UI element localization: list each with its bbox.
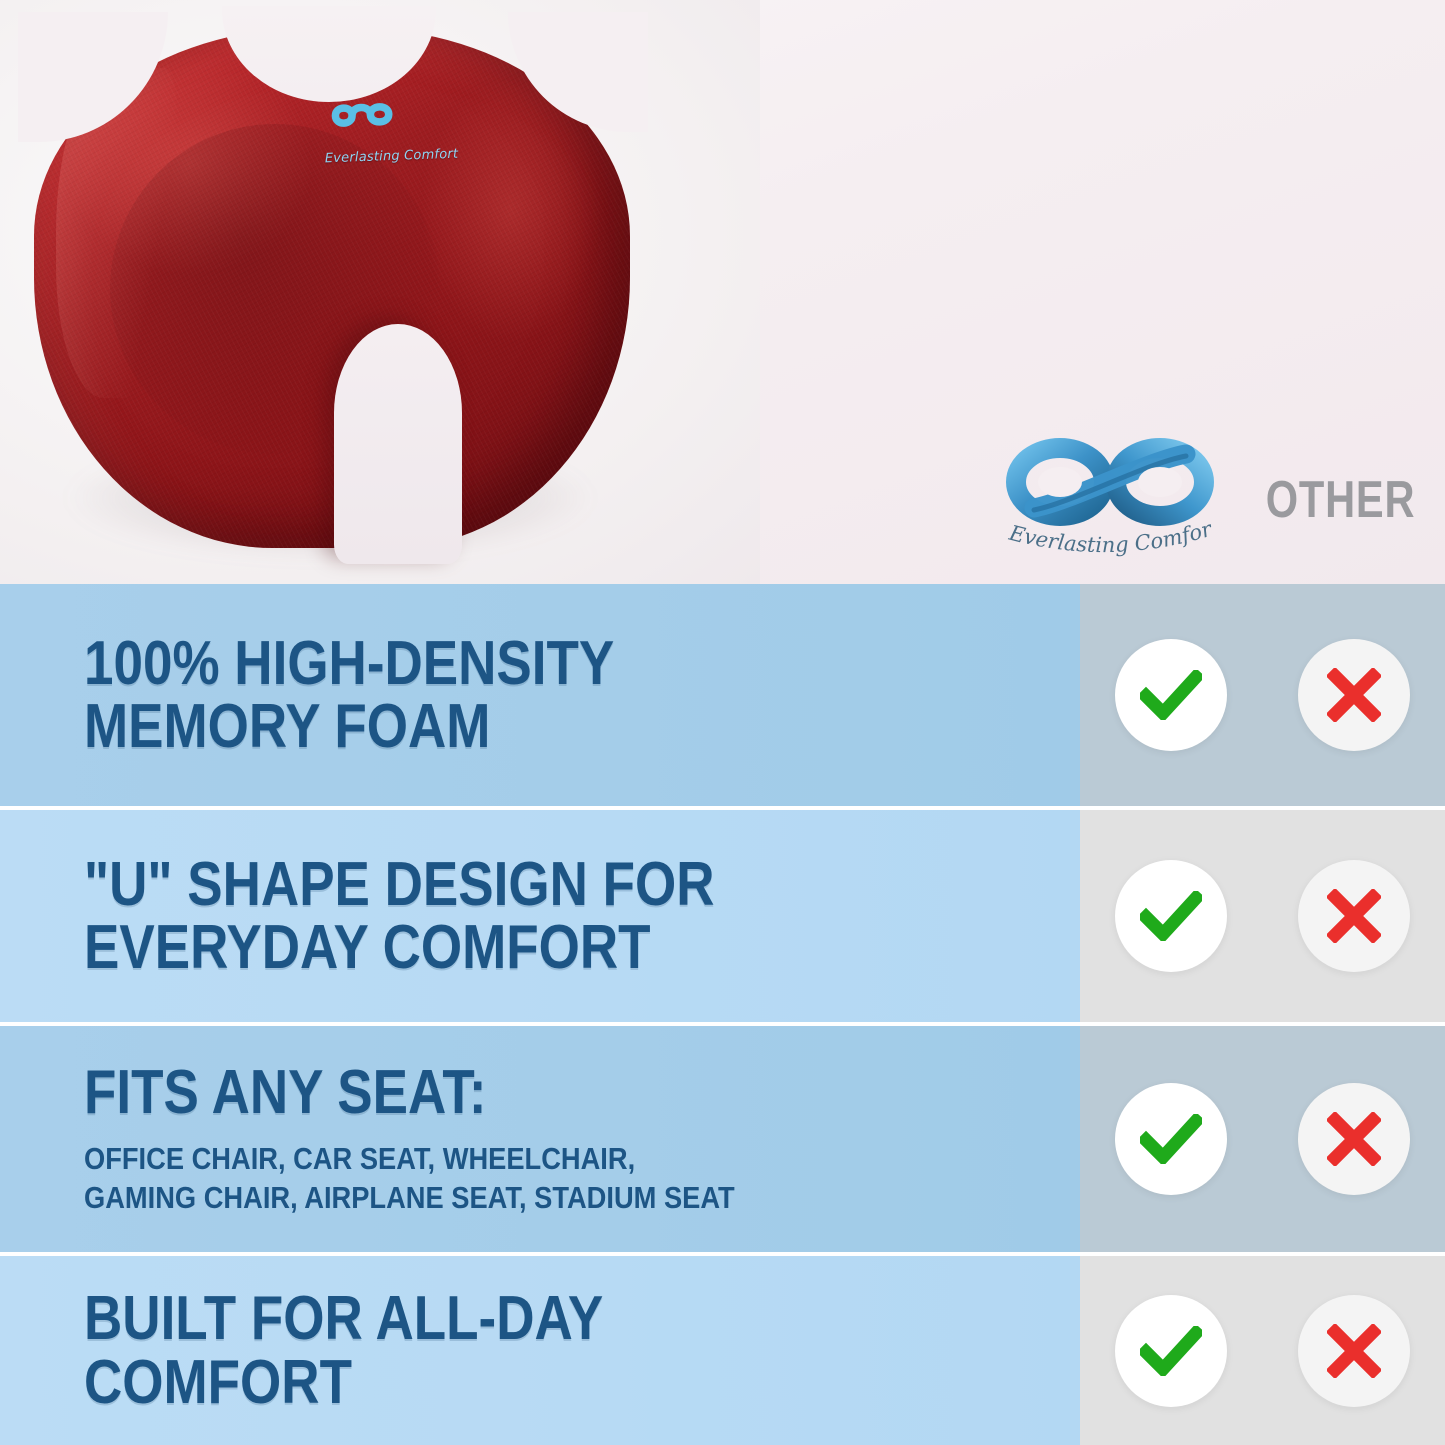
cross-badge	[1298, 639, 1410, 751]
check-badge	[1115, 639, 1227, 751]
feature-title: FITS ANY SEAT:	[84, 1061, 901, 1124]
cross-icon	[1327, 1112, 1381, 1166]
feature-title: 100% HIGH-DENSITY MEMORY FOAM	[84, 632, 901, 758]
feature-cell: "U" SHAPE DESIGN FOR EVERYDAY COMFORT	[0, 810, 1080, 1022]
check-icon	[1140, 891, 1202, 941]
other-mark-cell	[1262, 1026, 1445, 1252]
header-zone: Everlasting Comfort	[0, 0, 1445, 584]
cross-badge	[1298, 860, 1410, 972]
cushion-embroidered-logo: Everlasting Comfort	[316, 83, 466, 198]
everlasting-mark-cell	[1080, 1026, 1263, 1252]
other-column-header: OTHER	[1235, 420, 1445, 580]
cross-icon	[1327, 889, 1381, 943]
check-icon	[1140, 1326, 1202, 1376]
brand-wordmark: Everlasting Comfort®	[998, 524, 1222, 564]
check-badge	[1115, 1083, 1227, 1195]
feature-subtitle: OFFICE CHAIR, CAR SEAT, WHEELCHAIR, GAMI…	[84, 1139, 925, 1217]
check-badge	[1115, 1295, 1227, 1407]
cross-badge	[1298, 1295, 1410, 1407]
cushion-u-cutout	[334, 324, 462, 564]
check-icon	[1140, 1114, 1202, 1164]
feature-cell: BUILT FOR ALL-DAY COMFORT	[0, 1256, 1080, 1445]
feature-cell: FITS ANY SEAT: OFFICE CHAIR, CAR SEAT, W…	[0, 1026, 1080, 1252]
brand-column-header: Everlasting Comfort®	[985, 420, 1235, 580]
infinity-icon	[1004, 436, 1216, 528]
other-label: OTHER	[1265, 470, 1415, 530]
svg-text:Everlasting Comfort®: Everlasting Comfort®	[998, 524, 1216, 557]
everlasting-mark-cell	[1080, 584, 1263, 806]
product-comparison-infographic: Everlasting Comfort	[0, 0, 1445, 1445]
check-badge	[1115, 860, 1227, 972]
cross-icon	[1327, 668, 1381, 722]
everlasting-mark-cell	[1080, 1256, 1263, 1445]
product-image: Everlasting Comfort	[10, 8, 660, 578]
cross-icon	[1327, 1324, 1381, 1378]
table-row: "U" SHAPE DESIGN FOR EVERYDAY COMFORT	[0, 810, 1445, 1022]
infinity-icon	[316, 85, 418, 144]
table-row: FITS ANY SEAT: OFFICE CHAIR, CAR SEAT, W…	[0, 1026, 1445, 1252]
other-mark-cell	[1262, 810, 1445, 1022]
feature-cell: 100% HIGH-DENSITY MEMORY FOAM	[0, 584, 1080, 806]
everlasting-mark-cell	[1080, 810, 1263, 1022]
other-mark-cell	[1262, 584, 1445, 806]
table-row: 100% HIGH-DENSITY MEMORY FOAM	[0, 584, 1445, 806]
comparison-table: 100% HIGH-DENSITY MEMORY FOAM	[0, 584, 1445, 1445]
feature-title: BUILT FOR ALL-DAY COMFORT	[84, 1287, 901, 1413]
cross-badge	[1298, 1083, 1410, 1195]
feature-title: "U" SHAPE DESIGN FOR EVERYDAY COMFORT	[84, 853, 901, 979]
other-mark-cell	[1262, 1256, 1445, 1445]
cushion-logo-text: Everlasting Comfort	[318, 146, 464, 166]
table-row: BUILT FOR ALL-DAY COMFORT	[0, 1256, 1445, 1445]
check-icon	[1140, 670, 1202, 720]
seat-cushion: Everlasting Comfort	[34, 28, 630, 548]
